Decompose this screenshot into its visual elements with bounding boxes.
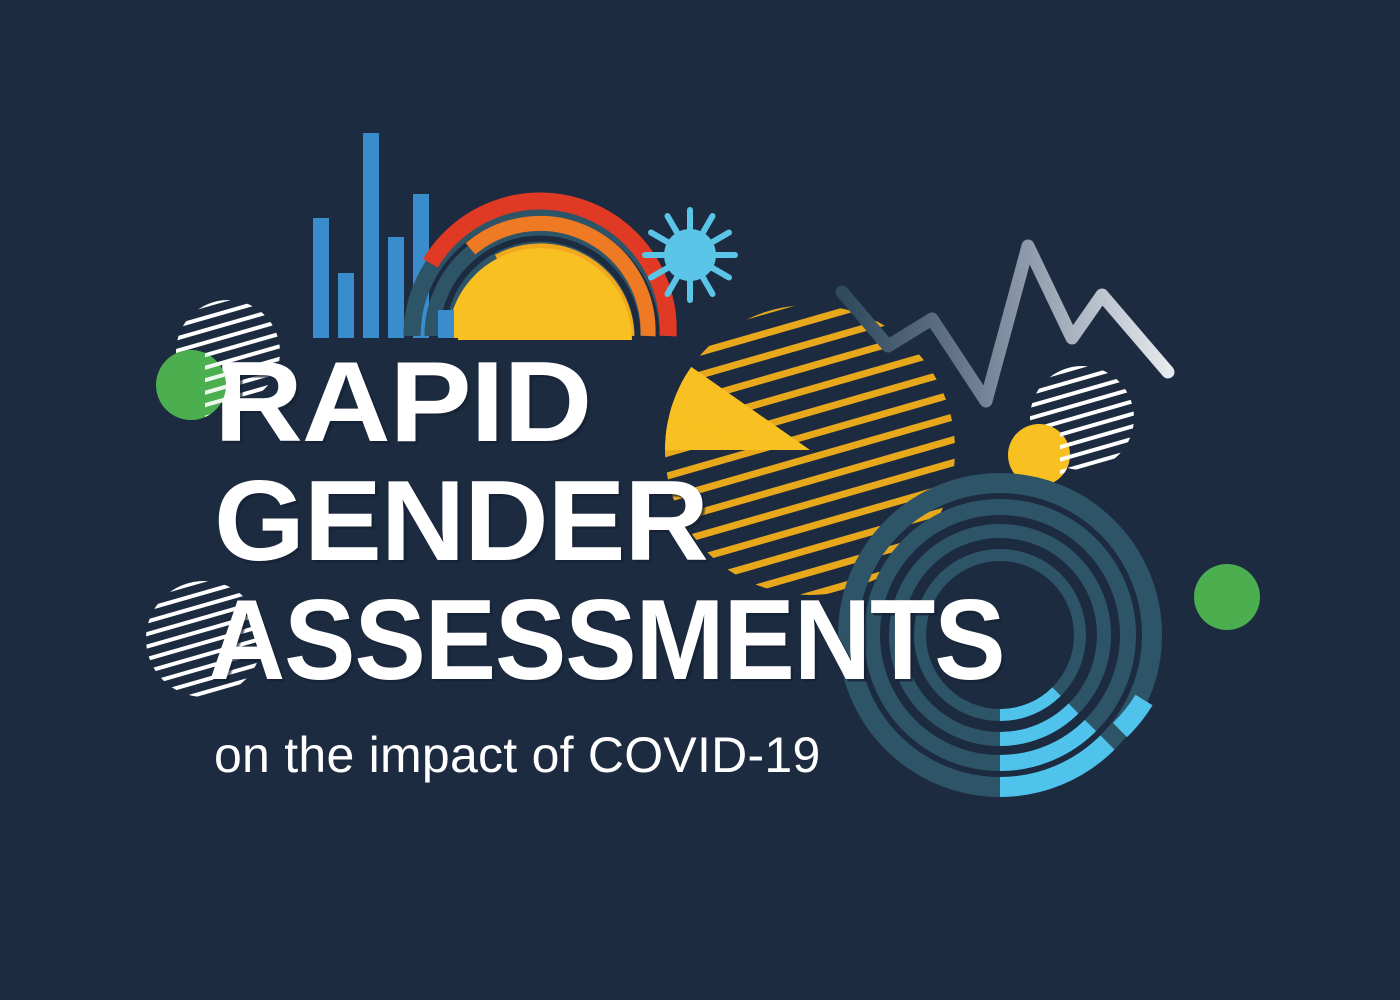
semicircle-arc-chart <box>306 201 668 342</box>
concentric-ring-arc-chart <box>840 470 1170 787</box>
striped-circle-bottom-left <box>140 575 270 705</box>
green-circle-right <box>1194 564 1260 630</box>
striped-circle-top-left <box>170 294 290 414</box>
yellow-striped-circle <box>660 300 960 600</box>
decorative-artwork <box>0 0 1400 1000</box>
poster: RAPID GENDER ASSESSMENTS on the impact o… <box>0 0 1400 1000</box>
